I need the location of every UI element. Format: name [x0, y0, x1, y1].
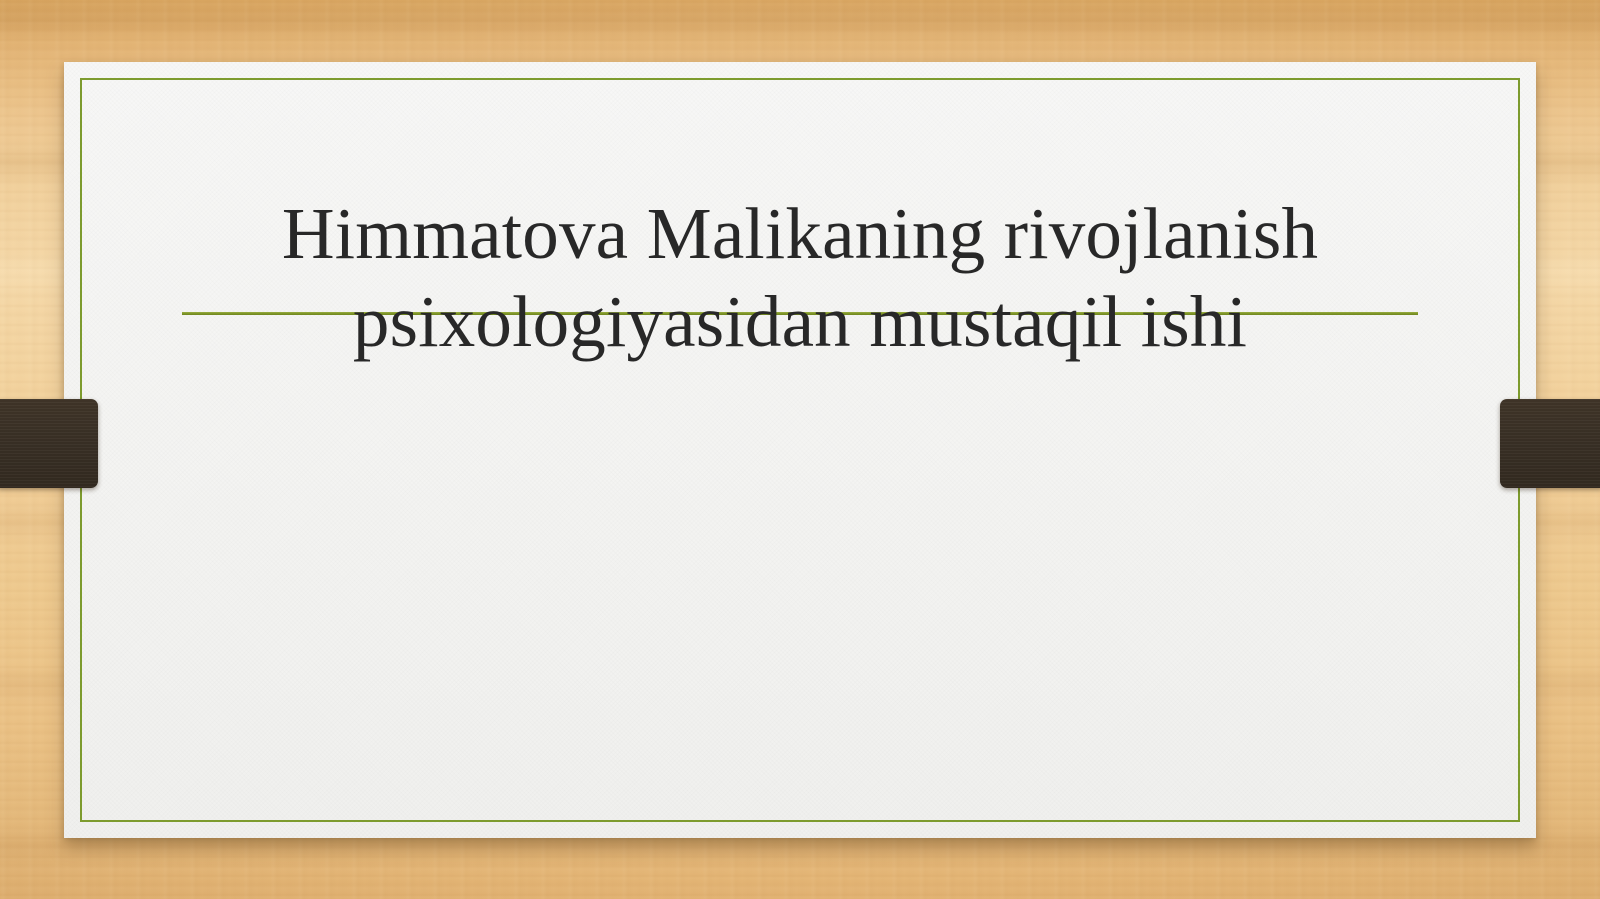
- left-ribbon-tab: [0, 399, 98, 488]
- paper-texture: [64, 62, 1536, 838]
- slide-card: [64, 62, 1536, 838]
- title-block: Himmatova Malikaning rivojlanish psixolo…: [182, 190, 1418, 380]
- slide-title: Himmatova Malikaning rivojlanish psixolo…: [182, 190, 1418, 366]
- title-slide: Himmatova Malikaning rivojlanish psixolo…: [0, 0, 1600, 899]
- right-ribbon-tab: [1500, 399, 1600, 488]
